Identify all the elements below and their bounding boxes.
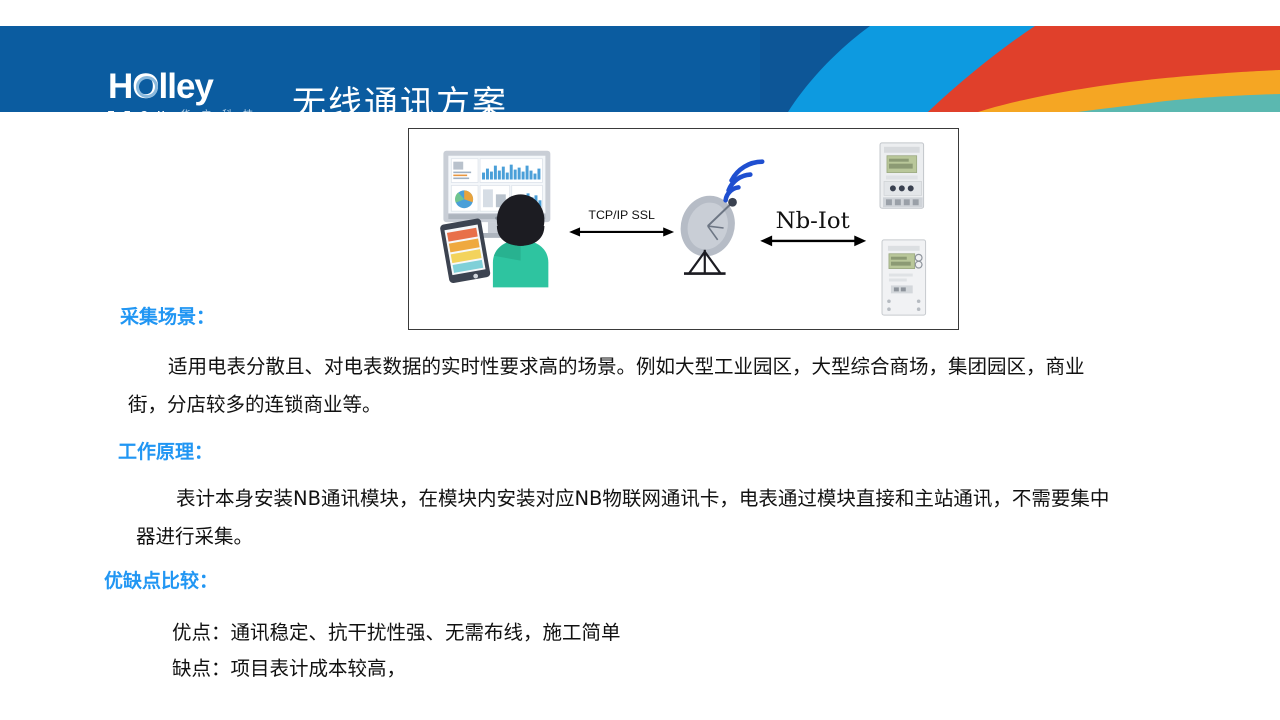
slide-canvas: HOlley T E C H 华 立 科 技 无线通讯方案 xyxy=(0,0,1280,720)
page-title: 无线通讯方案 xyxy=(292,76,508,112)
meter-top-icon xyxy=(880,143,924,208)
tablet-icon xyxy=(440,218,491,284)
nbiot-link: Nb-Iot xyxy=(760,208,866,246)
architecture-diagram: TCP/IP SSL xyxy=(408,128,959,330)
holley-logo: HOlley T E C H 华 立 科 技 xyxy=(108,70,268,112)
section-heading-pros-cons: 优缺点比较： xyxy=(104,566,218,593)
section-body-collection-scenario: 适用电表分散且、对电表数据的实时性要求高的场景。例如大型工业园区，大型综合商场，… xyxy=(128,348,1203,424)
cons-line: 缺点：项目表计成本较高， xyxy=(172,651,621,687)
body-line: 表计本身安装NB通讯模块，在模块内安装对应NB物联网通讯卡，电表通过模块直接和主… xyxy=(136,480,1206,518)
meter-bottom-icon xyxy=(882,240,926,315)
body-line: 街，分店较多的连锁商业等。 xyxy=(128,386,1203,424)
logo-subtext: T E C H 华 立 科 技 xyxy=(108,106,268,112)
tcpip-link: TCP/IP SSL xyxy=(569,208,674,236)
tcpip-label: TCP/IP SSL xyxy=(588,208,655,222)
diagram-canvas: TCP/IP SSL xyxy=(409,129,958,329)
wifi-waves-icon xyxy=(726,162,763,201)
nbiot-label: Nb-Iot xyxy=(776,208,850,234)
pros-line: 优点：通讯稳定、抗干扰性强、无需布线，施工简单 xyxy=(172,615,621,651)
operator-figure xyxy=(493,194,548,287)
slide-header-band: HOlley T E C H 华 立 科 技 无线通讯方案 xyxy=(0,26,1280,112)
logo-wordmark: HOlley xyxy=(108,70,268,104)
section-body-working-principle: 表计本身安装NB通讯模块，在模块内安装对应NB物联网通讯卡，电表通过模块直接和主… xyxy=(136,480,1206,556)
logo-o-ring-icon xyxy=(136,76,158,98)
body-line: 适用电表分散且、对电表数据的实时性要求高的场景。例如大型工业园区，大型综合商场，… xyxy=(128,348,1203,386)
section-heading-working-principle: 工作原理： xyxy=(118,437,213,464)
header-decorative-swoosh xyxy=(760,26,1280,112)
section-heading-collection-scenario: 采集场景： xyxy=(120,302,215,329)
satellite-dish-icon xyxy=(673,162,762,274)
section-body-pros-cons: 优点：通讯稳定、抗干扰性强、无需布线，施工简单 缺点：项目表计成本较高， xyxy=(172,615,621,687)
body-line: 器进行采集。 xyxy=(136,518,1206,556)
